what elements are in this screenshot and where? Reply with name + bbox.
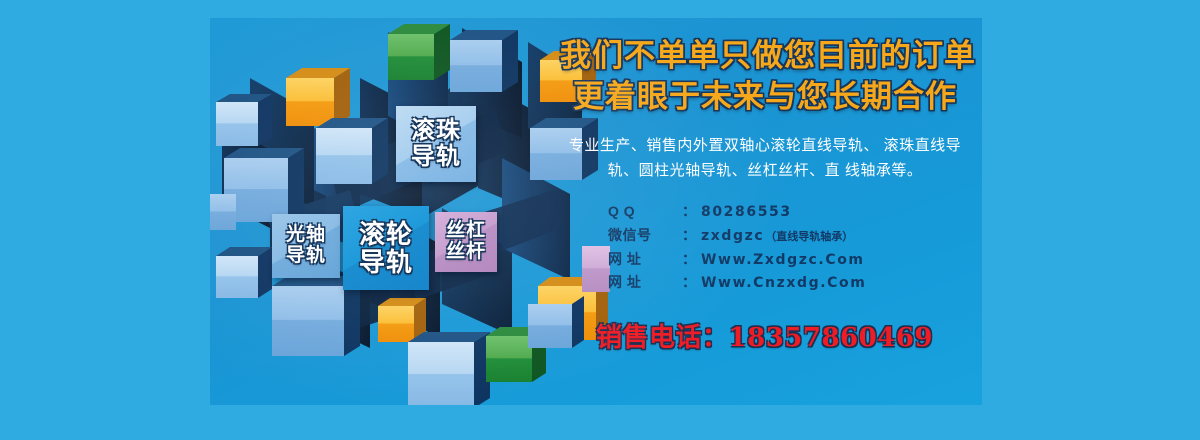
product-cube-line1: 滚轮 bbox=[359, 220, 413, 248]
contact-value-website-2[interactable]: Www.Cnzxdg.Com bbox=[701, 272, 866, 295]
contact-key-qq: Q Q bbox=[608, 200, 682, 223]
contact-row-qq: Q Q ： 80286553 bbox=[608, 200, 970, 224]
contact-separator: ： bbox=[682, 224, 701, 247]
contact-key-website-2: 网 址 bbox=[608, 271, 682, 294]
contact-row-wechat: 微信号 ： zxdgzc （直线导轨轴承） bbox=[608, 224, 970, 248]
contact-separator: ： bbox=[682, 271, 701, 294]
contact-separator: ： bbox=[682, 248, 701, 271]
product-cube-guangzhou-daogui[interactable]: 光轴 导轨 bbox=[272, 214, 340, 278]
contact-value-wechat[interactable]: zxdgzc bbox=[701, 225, 764, 248]
contact-note-wechat: （直线导轨轴承） bbox=[764, 229, 853, 247]
product-cube-sigang-sigan[interactable]: 丝杠 丝杆 bbox=[435, 212, 497, 272]
product-cube-line2: 丝杆 bbox=[446, 242, 486, 263]
sales-phone-label: 销售电话： bbox=[596, 322, 729, 352]
contact-value-website-1[interactable]: Www.Zxdgzc.Com bbox=[701, 249, 865, 272]
product-cube-gunzhu-daogui[interactable]: 滚珠 导轨 bbox=[396, 106, 476, 182]
contact-key-wechat: 微信号 bbox=[608, 224, 682, 247]
sales-phone-line[interactable]: 销售电话：18357860469 bbox=[560, 317, 970, 354]
contact-row-website-2: 网 址 ： Www.Cnzxdg.Com bbox=[608, 271, 970, 295]
contact-block: Q Q ： 80286553 微信号 ： zxdgzc （直线导轨轴承） 网 址… bbox=[560, 200, 970, 295]
product-cube-line1: 滚珠 bbox=[411, 118, 461, 144]
product-cube-gunlun-daogui[interactable]: 滚轮 导轨 bbox=[343, 206, 429, 290]
contact-value-qq[interactable]: 80286553 bbox=[701, 201, 792, 224]
contact-row-website-1: 网 址 ： Www.Zxdgzc.Com bbox=[608, 248, 970, 272]
headline: 我们不单单只做您目前的订单 更着眼于未来与您长期合作 bbox=[560, 36, 970, 118]
description-line-1: 专业生产、销售内外置双轴心滚轮直线导轨、 bbox=[569, 137, 879, 154]
product-cube-line2: 导轨 bbox=[411, 144, 461, 170]
headline-line-2: 更着眼于未来与您长期合作 bbox=[560, 77, 970, 118]
inner-banner: 滚珠 导轨 光轴 导轨 滚轮 导轨 丝杠 丝杆 我们不单单只做您目前的订单 更着… bbox=[210, 18, 982, 405]
contact-separator: ： bbox=[682, 200, 701, 223]
banner-root: 滚珠 导轨 光轴 导轨 滚轮 导轨 丝杠 丝杆 我们不单单只做您目前的订单 更着… bbox=[0, 0, 1200, 440]
headline-line-1: 我们不单单只做您目前的订单 bbox=[560, 36, 970, 77]
sales-phone-number[interactable]: 18357860469 bbox=[729, 323, 934, 353]
product-cube-line1: 丝杠 bbox=[446, 221, 486, 242]
product-cube-line2: 导轨 bbox=[359, 248, 413, 276]
product-cube-line1: 光轴 bbox=[286, 225, 326, 246]
product-cube-line2: 导轨 bbox=[286, 246, 326, 267]
text-column: 我们不单单只做您目前的订单 更着眼于未来与您长期合作 专业生产、销售内外置双轴心… bbox=[560, 36, 970, 396]
description-text: 专业生产、销售内外置双轴心滚轮直线导轨、 滚珠直线导轨、圆柱光轴导轨、丝杠丝杆、… bbox=[560, 134, 970, 184]
description-line-3: 线轴承等。 bbox=[845, 162, 923, 179]
contact-key-website-1: 网 址 bbox=[608, 248, 682, 271]
